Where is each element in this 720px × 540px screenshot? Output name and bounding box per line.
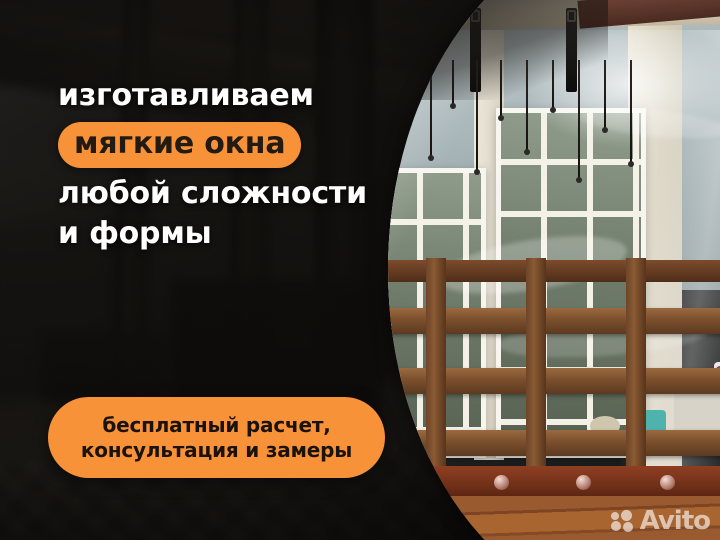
deck-bolt [414,475,429,490]
advertisement-banner: изготавливаем мягкие окна любой сложност… [0,0,720,540]
deck-fascia [388,466,720,500]
cta-line-1: бесплатный расчет, [102,413,330,437]
oval-photo-frame [388,0,720,540]
avito-wordmark: Avito [640,508,710,534]
cta-line-2: консультация и замеры [81,438,352,462]
deck-bolt [494,475,509,490]
deck-bolt [576,475,591,490]
oval-top-shadow [388,0,608,100]
headline-line-1: изготавливаем [58,76,388,116]
headline-highlight-pill: мягкие окна [58,122,301,168]
headline-line-4: и формы [58,214,388,254]
headline-block: изготавливаем мягкие окна любой сложност… [58,76,388,255]
headline-line-3: любой сложности [58,174,388,214]
icicle-light [630,60,632,164]
cta-badge[interactable]: бесплатный расчет, консультация и замеры [48,397,385,478]
avito-watermark: Avito [611,508,710,534]
oval-photo-content [388,0,720,540]
deck-bolt [660,475,675,490]
headline-pill-wrap: мягкие окна [58,116,388,174]
avito-dots-icon [611,510,635,532]
